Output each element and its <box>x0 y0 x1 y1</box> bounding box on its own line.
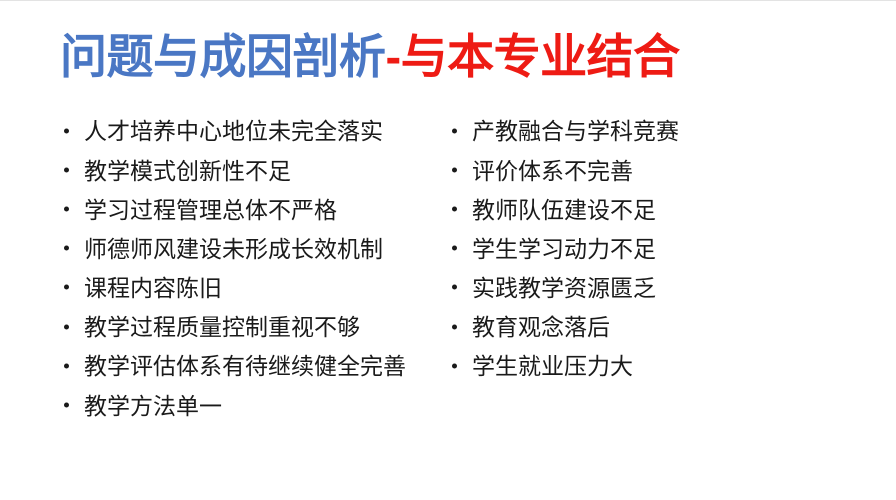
list-item: 教学模式创新性不足 <box>62 150 432 189</box>
round-bullet-icon <box>64 285 69 290</box>
list-item: 教育观念落后 <box>450 307 850 346</box>
list-item: 评价体系不完善 <box>450 150 850 189</box>
round-bullet-icon <box>64 402 69 407</box>
list-item-label: 评价体系不完善 <box>472 152 633 191</box>
list-item-label: 课程内容陈旧 <box>84 269 222 308</box>
list-item: 学生学习动力不足 <box>450 229 850 268</box>
round-bullet-icon <box>64 206 69 211</box>
round-bullet-icon <box>452 324 457 329</box>
list-item: 教学评估体系有待继续健全完善 <box>62 346 432 385</box>
list-item: 教师队伍建设不足 <box>450 189 850 228</box>
bullet-column-left: 人才培养中心地位未完全落实 教学模式创新性不足 学习过程管理总体不严格 师德师风… <box>62 111 432 425</box>
list-item-label: 师德师风建设未形成长效机制 <box>84 230 383 269</box>
page-title-accent: -与本专业结合 <box>386 30 680 83</box>
list-item-label: 教师队伍建设不足 <box>472 191 656 230</box>
list-item: 学生就业压力大 <box>450 346 850 385</box>
list-item-label: 学生学习动力不足 <box>472 230 656 269</box>
list-item-label: 产教融合与学科竞赛 <box>472 112 679 151</box>
list-item-label: 教学过程质量控制重视不够 <box>84 308 360 347</box>
round-bullet-icon <box>64 324 69 329</box>
bullet-list-right: 产教融合与学科竞赛 评价体系不完善 教师队伍建设不足 学生学习动力不足 实践教学… <box>450 111 850 385</box>
round-bullet-icon <box>452 285 457 290</box>
round-bullet-icon <box>452 167 457 172</box>
list-item-label: 教学评估体系有待继续健全完善 <box>84 347 406 386</box>
slide-canvas: 问题与成因剖析-与本专业结合 人才培养中心地位未完全落实 教学模式创新性不足 学… <box>0 0 896 500</box>
bullet-column-right: 产教融合与学科竞赛 评价体系不完善 教师队伍建设不足 学生学习动力不足 实践教学… <box>450 111 850 385</box>
list-item: 实践教学资源匮乏 <box>450 268 850 307</box>
round-bullet-icon <box>64 363 69 368</box>
bullet-list-left: 人才培养中心地位未完全落实 教学模式创新性不足 学习过程管理总体不严格 师德师风… <box>62 111 432 425</box>
page-title-primary: 问题与成因剖析 <box>60 30 386 83</box>
round-bullet-icon <box>452 128 457 133</box>
round-bullet-icon <box>452 206 457 211</box>
list-item: 课程内容陈旧 <box>62 268 432 307</box>
list-item-label: 教学模式创新性不足 <box>84 152 291 191</box>
list-item: 教学过程质量控制重视不够 <box>62 307 432 346</box>
round-bullet-icon <box>452 246 457 251</box>
list-item: 产教融合与学科竞赛 <box>450 111 850 150</box>
list-item-label: 教学方法单一 <box>84 387 222 426</box>
list-item: 教学方法单一 <box>62 385 432 424</box>
round-bullet-icon <box>64 246 69 251</box>
list-item: 人才培养中心地位未完全落实 <box>62 111 432 150</box>
page-title: 问题与成因剖析-与本专业结合 <box>60 27 860 87</box>
round-bullet-icon <box>64 128 69 133</box>
list-item: 学习过程管理总体不严格 <box>62 189 432 228</box>
list-item: 师德师风建设未形成长效机制 <box>62 229 432 268</box>
round-bullet-icon <box>64 167 69 172</box>
round-bullet-icon <box>452 363 457 368</box>
list-item-label: 人才培养中心地位未完全落实 <box>84 112 383 151</box>
list-item-label: 学习过程管理总体不严格 <box>84 191 337 230</box>
bullet-columns: 人才培养中心地位未完全落实 教学模式创新性不足 学习过程管理总体不严格 师德师风… <box>0 111 896 441</box>
list-item-label: 教育观念落后 <box>472 308 610 347</box>
list-item-label: 实践教学资源匮乏 <box>472 269 656 308</box>
list-item-label: 学生就业压力大 <box>472 347 633 386</box>
